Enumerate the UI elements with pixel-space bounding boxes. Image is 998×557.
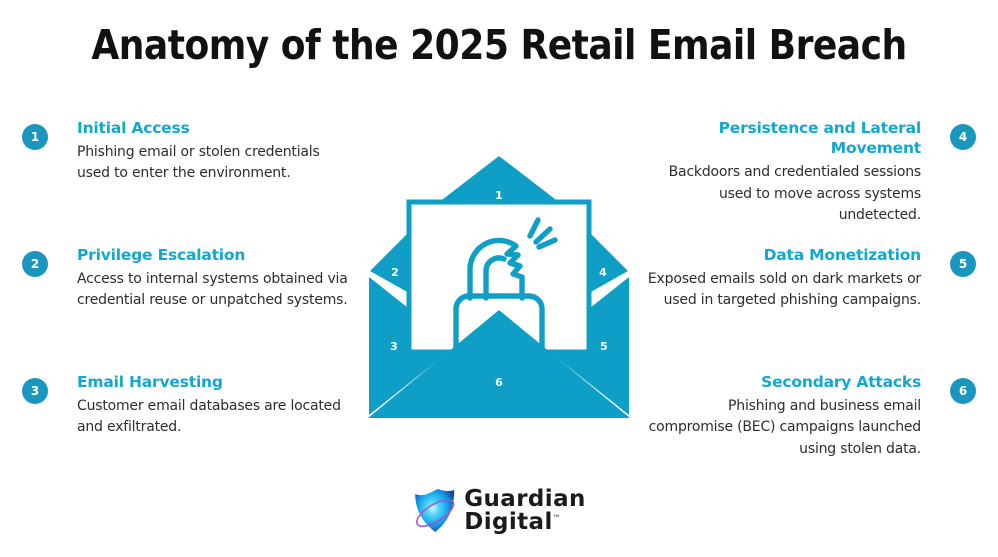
step-item-5: 5 Data Monetization Exposed emails sold … xyxy=(646,245,976,372)
step-title-5: Data Monetization xyxy=(646,245,921,265)
step-title-4: Persistence and Lateral Movement xyxy=(646,118,921,158)
infographic-canvas: Anatomy of the 2025 Retail Email Breach … xyxy=(0,0,998,557)
trademark-symbol: ™ xyxy=(553,513,561,522)
step-item-3: 3 Email Harvesting Customer email databa… xyxy=(22,372,352,439)
envelope-illustration: 1 2 4 3 5 6 xyxy=(364,150,634,425)
step-item-1: 1 Initial Access Phishing email or stole… xyxy=(22,118,352,245)
logo-line-digital: Digital™ xyxy=(464,511,586,534)
envelope-region-label-3: 3 xyxy=(390,340,398,353)
envelope-region-label-5: 5 xyxy=(600,340,608,353)
step-title-6: Secondary Attacks xyxy=(646,372,921,392)
step-description-3: Customer email databases are located and… xyxy=(77,396,352,439)
logo-line-guardian: Guardian xyxy=(464,488,586,511)
step-badge-3: 3 xyxy=(22,378,48,404)
step-description-6: Phishing and business email compromise (… xyxy=(646,396,921,460)
step-body-6: Secondary Attacks Phishing and business … xyxy=(646,372,921,460)
step-body-4: Persistence and Lateral Movement Backdoo… xyxy=(646,118,921,226)
step-title-3: Email Harvesting xyxy=(77,372,352,392)
step-item-6: 6 Secondary Attacks Phishing and busines… xyxy=(646,372,976,460)
step-body-2: Privilege Escalation Access to internal … xyxy=(77,245,352,312)
step-body-3: Email Harvesting Customer email database… xyxy=(77,372,352,439)
step-item-4: 4 Persistence and Lateral Movement Backd… xyxy=(646,118,976,245)
envelope-region-label-2: 2 xyxy=(391,266,399,279)
step-badge-1: 1 xyxy=(22,124,48,150)
step-badge-6: 6 xyxy=(950,378,976,404)
step-description-5: Exposed emails sold on dark markets or u… xyxy=(646,269,921,312)
step-badge-4: 4 xyxy=(950,124,976,150)
logo-wordmark: Guardian Digital™ xyxy=(464,488,586,533)
shield-icon xyxy=(412,487,456,535)
logo-digital-text: Digital xyxy=(464,509,553,535)
step-badge-2: 2 xyxy=(22,251,48,277)
steps-column-right: 4 Persistence and Lateral Movement Backd… xyxy=(646,118,976,460)
step-body-5: Data Monetization Exposed emails sold on… xyxy=(646,245,921,312)
step-badge-5: 5 xyxy=(950,251,976,277)
brand-logo: Guardian Digital™ xyxy=(412,487,586,535)
step-description-4: Backdoors and credentialed sessions used… xyxy=(646,162,921,226)
step-description-1: Phishing email or stolen credentials use… xyxy=(77,142,352,185)
step-title-2: Privilege Escalation xyxy=(77,245,352,265)
step-title-1: Initial Access xyxy=(77,118,352,138)
steps-column-left: 1 Initial Access Phishing email or stole… xyxy=(22,118,352,439)
envelope-region-label-4: 4 xyxy=(599,266,607,279)
page-title: Anatomy of the 2025 Retail Email Breach xyxy=(60,22,938,69)
step-body-1: Initial Access Phishing email or stolen … xyxy=(77,118,352,185)
envelope-region-label-1: 1 xyxy=(495,189,503,202)
envelope-region-label-6: 6 xyxy=(495,376,503,389)
step-item-2: 2 Privilege Escalation Access to interna… xyxy=(22,245,352,372)
step-description-2: Access to internal systems obtained via … xyxy=(77,269,352,312)
